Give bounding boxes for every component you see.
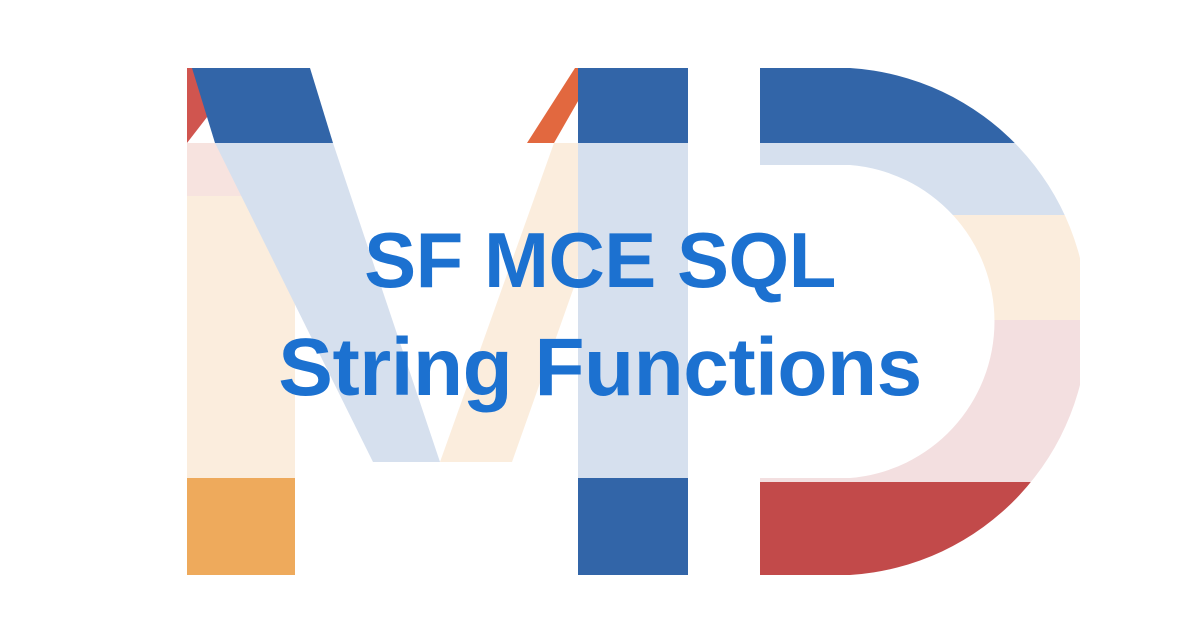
d-band-pink <box>740 320 1080 482</box>
d-band-dark-blue <box>740 60 1080 143</box>
d-arc-bands <box>740 60 1080 582</box>
m-top-right-band <box>578 68 688 143</box>
m-left-bar-orange <box>187 478 295 575</box>
monogram-svg <box>0 0 1200 627</box>
m-right-bar-body <box>578 143 688 478</box>
m-right-bar-bottom <box>578 478 688 575</box>
d-band-red <box>740 482 1080 582</box>
md-monogram-graphic <box>0 0 1200 627</box>
letter-m <box>187 68 688 575</box>
m-top-left-band <box>192 68 333 143</box>
social-card: SF MCE SQL String Functions <box>0 0 1200 627</box>
letter-d <box>740 60 1080 582</box>
d-band-light-blue <box>740 143 1080 215</box>
d-band-cream <box>740 215 1080 320</box>
